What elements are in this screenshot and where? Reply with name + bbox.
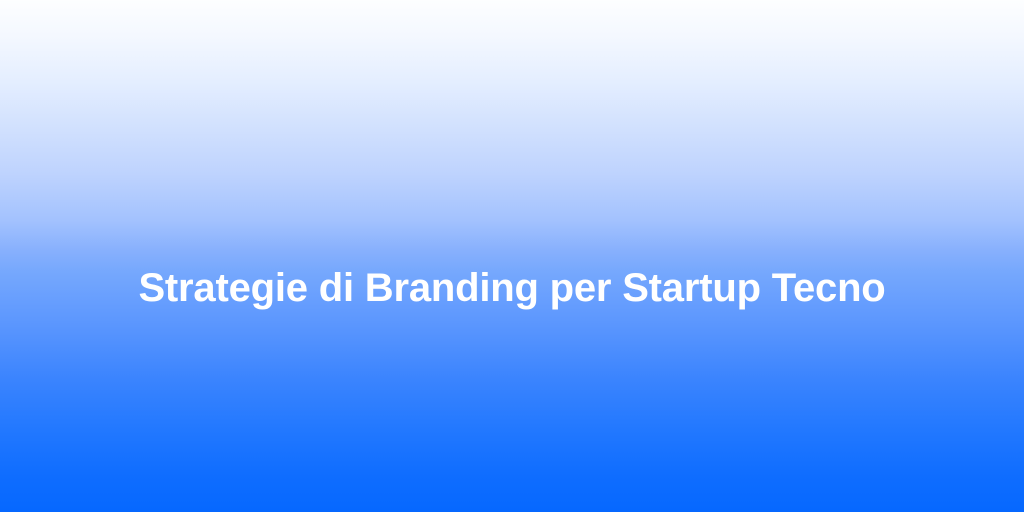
hero-content: Strategie di Branding per Startup Tecno [0, 265, 1024, 311]
page-title: Strategie di Branding per Startup Tecno [138, 265, 885, 311]
hero-banner: Strategie di Branding per Startup Tecno [0, 0, 1024, 512]
